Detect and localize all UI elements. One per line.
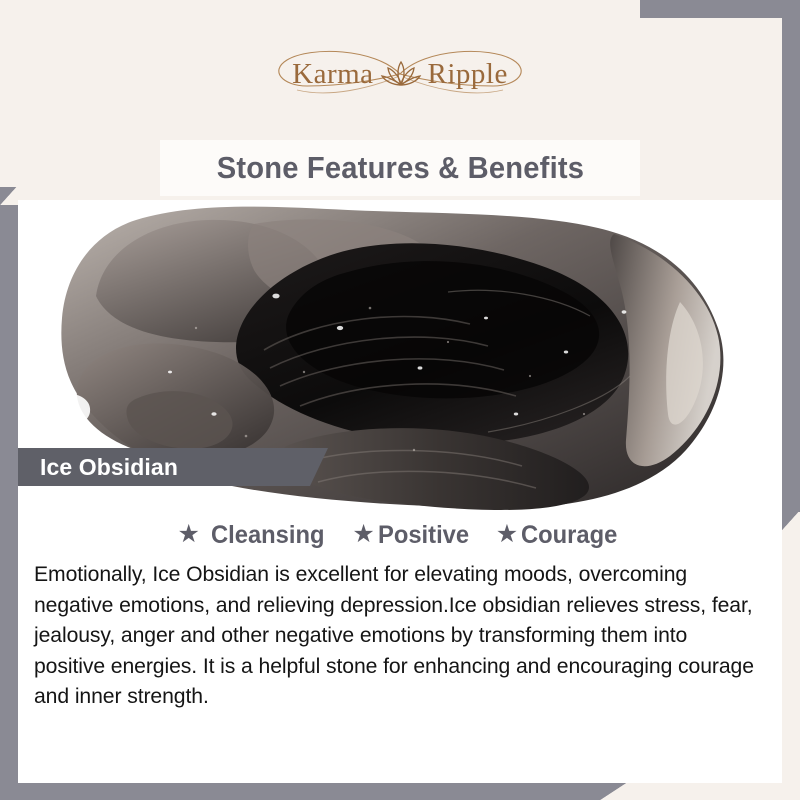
keyword-label: Cleansing (211, 521, 325, 550)
stone-name-banner: Ice Obsidian (18, 448, 178, 486)
keyword-item-courage: ★ Courage (496, 521, 623, 550)
star-icon: ★ (352, 522, 374, 547)
frame-band-bottom-tip (600, 783, 626, 800)
frame-band-left-tip (0, 187, 18, 207)
frame-band-top (640, 0, 800, 18)
frame-band-left (0, 205, 18, 785)
star-icon: ★ (177, 522, 199, 547)
header-section: Karma Ripple Stone Features & Benefits (0, 0, 800, 200)
title-plaque: Stone Features & Benefits (160, 140, 640, 196)
brand-name-right: Ripple (428, 60, 508, 89)
frame-band-right (782, 0, 800, 512)
page-title: Stone Features & Benefits (216, 150, 583, 186)
keyword-list: ★ Cleansing ★ Positive ★ Courage (18, 510, 782, 550)
brand-name-left: Karma (292, 60, 373, 89)
frame-band-right-tip (782, 512, 800, 532)
content-section: ★ Cleansing ★ Positive ★ Courage Emotion… (18, 510, 782, 783)
keyword-item-cleansing: ★ Cleansing (177, 521, 330, 550)
frame-band-bottom (0, 783, 600, 800)
infographic-card: Karma Ripple Stone Features & Benefits (0, 0, 800, 800)
stone-description: Emotionally, Ice Obsidian is excellent f… (34, 559, 757, 712)
keyword-label: Positive (378, 521, 469, 550)
keyword-label: Courage (521, 521, 617, 550)
brand-logo: Karma Ripple (240, 46, 560, 102)
stone-name: Ice Obsidian (18, 454, 178, 481)
keyword-item-positive: ★ Positive (352, 521, 473, 550)
lotus-icon (378, 54, 424, 94)
star-icon: ★ (496, 522, 518, 547)
